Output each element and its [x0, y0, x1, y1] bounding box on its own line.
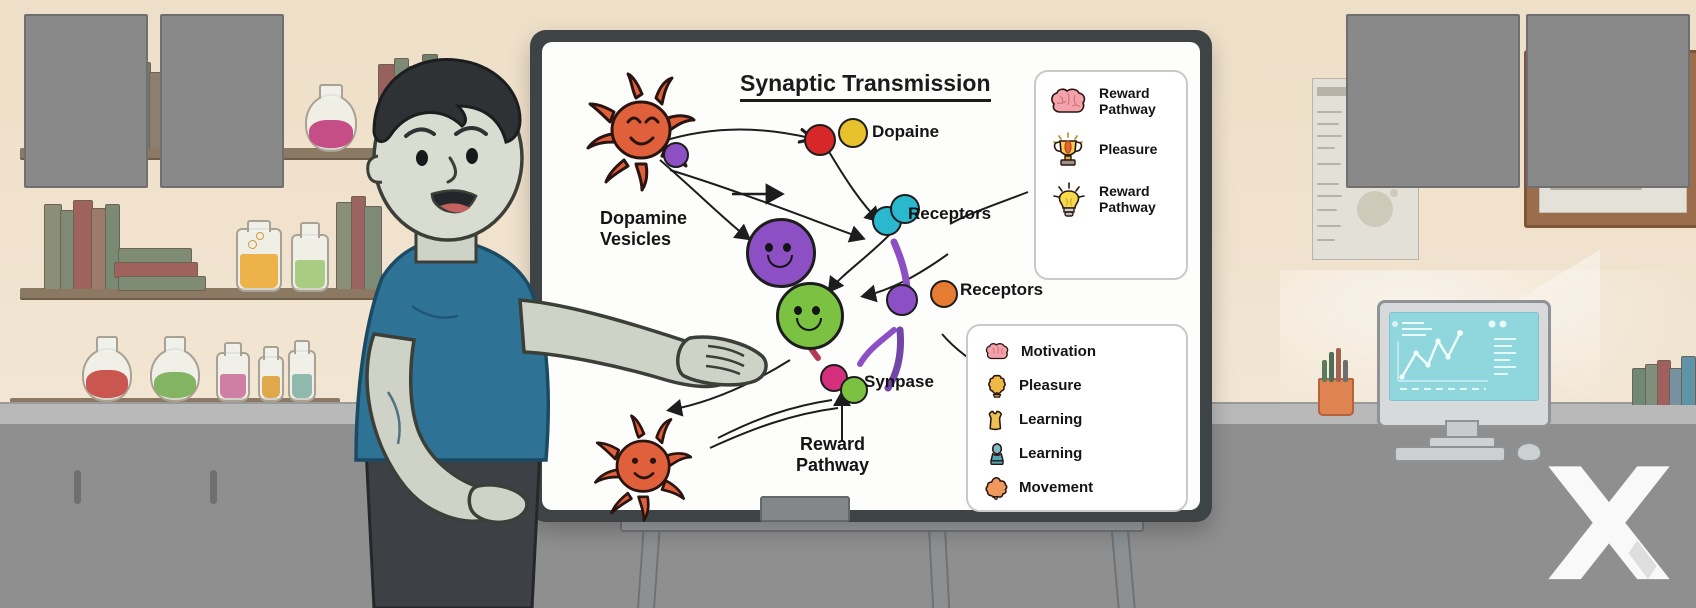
- bubble: [256, 232, 264, 240]
- poster-line: [1317, 147, 1335, 149]
- legend-item-label: Learning: [1019, 411, 1082, 428]
- flask-neck: [96, 336, 118, 352]
- legend-line2: Pathway: [1099, 199, 1156, 215]
- pencil-cup: [1318, 378, 1354, 416]
- flask-red: [82, 348, 132, 402]
- eye: [794, 306, 802, 315]
- legend-item-label: Reward Pathway: [1099, 86, 1156, 118]
- poster-line: [1317, 111, 1342, 113]
- poster-dot: [1390, 189, 1398, 197]
- legend-item[interactable]: Reward Pathway: [1036, 82, 1186, 128]
- popcorn-icon: [986, 374, 1008, 398]
- neuron-icon: [984, 476, 1008, 500]
- monitor-screen: [1389, 312, 1539, 401]
- jar-pink-2: [216, 352, 250, 402]
- jar-liquid: [220, 374, 246, 398]
- pencil: [1343, 360, 1348, 382]
- mouth: [796, 318, 822, 331]
- bubble: [248, 240, 257, 249]
- poster-line: [1317, 183, 1339, 185]
- dopamine-red: [804, 124, 836, 156]
- legend-item[interactable]: Learning: [968, 437, 1186, 471]
- legend-item-label: Reward Pathway: [1099, 184, 1156, 216]
- legend-bottom: Motivation Pleasure: [966, 324, 1188, 512]
- poster-line: [1317, 195, 1342, 197]
- pencil: [1329, 352, 1334, 382]
- poster-line: [1317, 123, 1339, 125]
- jar-neck: [247, 220, 271, 232]
- synapse-label: Synpase: [864, 372, 934, 392]
- poster-line: [1317, 163, 1341, 165]
- poster-line: [1317, 225, 1341, 227]
- receptor-purple: [886, 284, 918, 316]
- legend-item[interactable]: Pleasure: [968, 369, 1186, 403]
- book: [73, 200, 93, 289]
- legend-item[interactable]: Reward Pathway: [1036, 178, 1186, 222]
- legend-line2: Pathway: [1099, 101, 1156, 117]
- book-stack: [118, 276, 206, 291]
- trophy-icon: [1048, 130, 1088, 170]
- presenter-hand-right: [678, 337, 766, 385]
- frame-line: [1550, 188, 1642, 190]
- pencil: [1336, 348, 1341, 382]
- monitor[interactable]: [1377, 300, 1551, 428]
- legend-item[interactable]: Learning: [968, 403, 1186, 437]
- keyboard[interactable]: [1394, 446, 1506, 462]
- scene-root: Synaptic Transmission: [0, 0, 1696, 608]
- eye: [812, 306, 820, 315]
- screen-chart: [1390, 313, 1536, 399]
- jar-neck: [224, 342, 242, 356]
- flask-liquid: [154, 372, 196, 398]
- dopamine-yellow: [838, 118, 868, 148]
- legend-item-label: Motivation: [1021, 343, 1096, 360]
- watermark-x-icon: [1544, 466, 1674, 586]
- presenter-character: [270, 48, 790, 608]
- book: [1681, 356, 1696, 405]
- cabinet-door: [1526, 14, 1690, 188]
- legend-item-label: Learning: [1019, 445, 1082, 462]
- pencil: [1322, 360, 1327, 382]
- cabinet-handle[interactable]: [74, 470, 81, 504]
- cabinet-door: [24, 14, 148, 188]
- reward-pathway-line2: Pathway: [796, 455, 869, 475]
- dress-icon: [986, 408, 1008, 432]
- cabinet-door: [160, 14, 284, 188]
- flask-neck: [164, 336, 186, 352]
- poster-circle: [1357, 191, 1393, 227]
- poster-line: [1317, 209, 1337, 211]
- flask-green: [150, 348, 200, 402]
- reward-pathway-line1: Reward: [800, 434, 865, 454]
- brain-icon: [984, 341, 1010, 363]
- statue-icon: [986, 442, 1008, 466]
- receptors-top-label: Receptors: [908, 204, 991, 224]
- legend-item-label: Pleasure: [1099, 142, 1157, 158]
- receptors-right-label: Receptors: [960, 280, 1043, 300]
- legend-item-label: Movement: [1019, 479, 1093, 496]
- dopamine-label: Dopaine: [872, 122, 939, 142]
- cabinet-door: [1346, 14, 1520, 188]
- legend-line1: Reward: [1099, 85, 1150, 101]
- legend-item[interactable]: Pleasure: [1036, 128, 1186, 178]
- bulb-icon: [1050, 180, 1088, 220]
- mouse[interactable]: [1516, 442, 1542, 462]
- brain-icon: [1048, 86, 1088, 118]
- legend-item[interactable]: Movement: [968, 471, 1186, 505]
- receptor-orange: [930, 280, 958, 308]
- legend-line1: Reward: [1099, 183, 1150, 199]
- legend-item[interactable]: Motivation: [968, 335, 1186, 369]
- reward-pathway-label: Reward Pathway: [796, 434, 869, 475]
- legend-top: Reward Pathway: [1034, 70, 1188, 280]
- legend-item-label: Pleasure: [1019, 377, 1082, 394]
- cabinet-handle[interactable]: [210, 470, 217, 504]
- flask-liquid: [86, 370, 128, 398]
- poster-line: [1317, 239, 1335, 241]
- poster-line: [1317, 135, 1342, 137]
- presenter-hand-left: [469, 485, 527, 522]
